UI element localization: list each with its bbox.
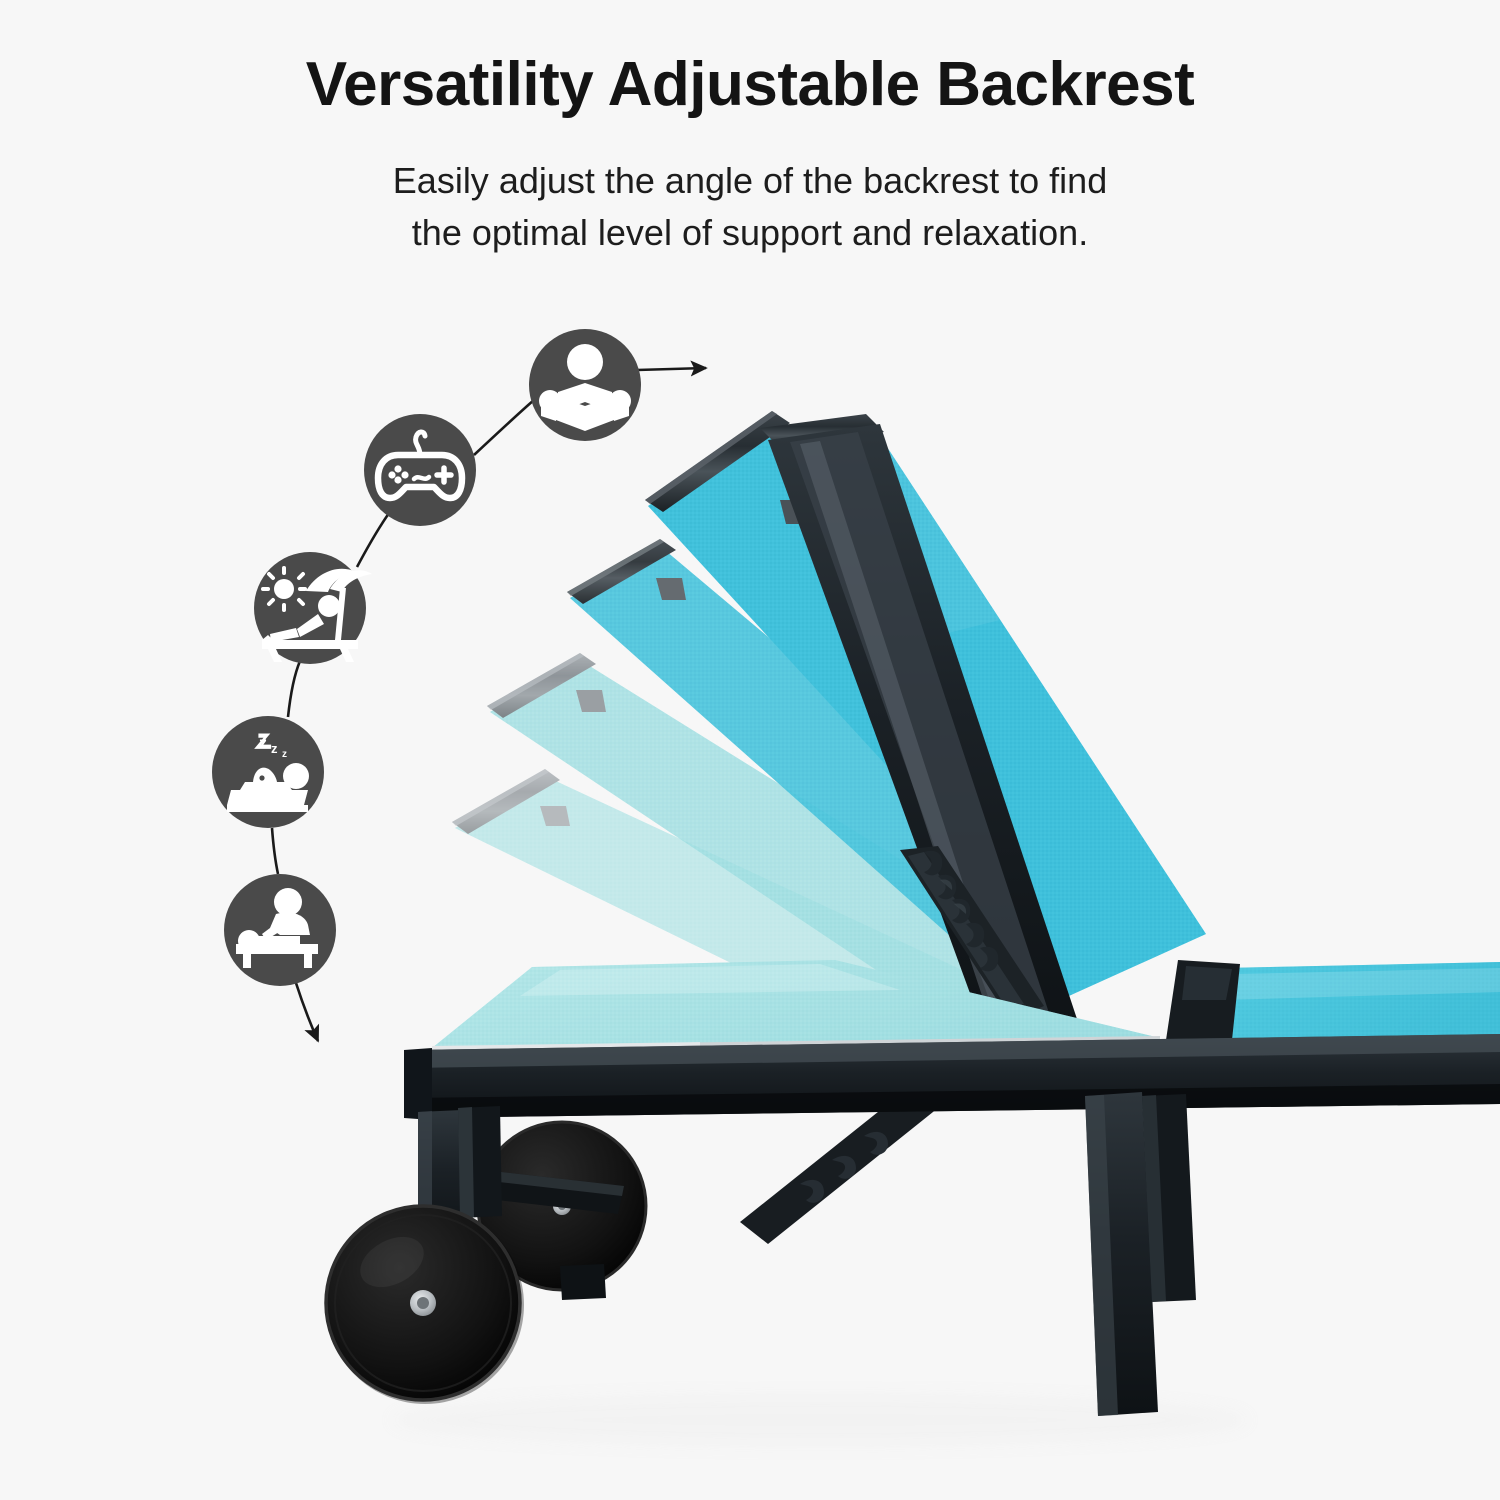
product-illustration: z z z: [0, 0, 1500, 1500]
svg-text:z: z: [271, 741, 278, 756]
badge-sunbathing[interactable]: [254, 552, 372, 664]
svg-text:z: z: [282, 749, 287, 760]
svg-text:z: z: [259, 735, 267, 752]
badge-gaming[interactable]: [364, 414, 476, 526]
badge-sleeping[interactable]: z z z: [212, 716, 324, 828]
leg-rear-right: [1085, 1092, 1196, 1416]
footrest-section: [1166, 960, 1500, 1042]
wheel-front: [326, 1206, 524, 1404]
badge-massage[interactable]: [224, 874, 336, 986]
badge-reading[interactable]: [529, 329, 641, 441]
product-feature-image: Versatility Adjustable Backrest Easily a…: [0, 0, 1500, 1500]
